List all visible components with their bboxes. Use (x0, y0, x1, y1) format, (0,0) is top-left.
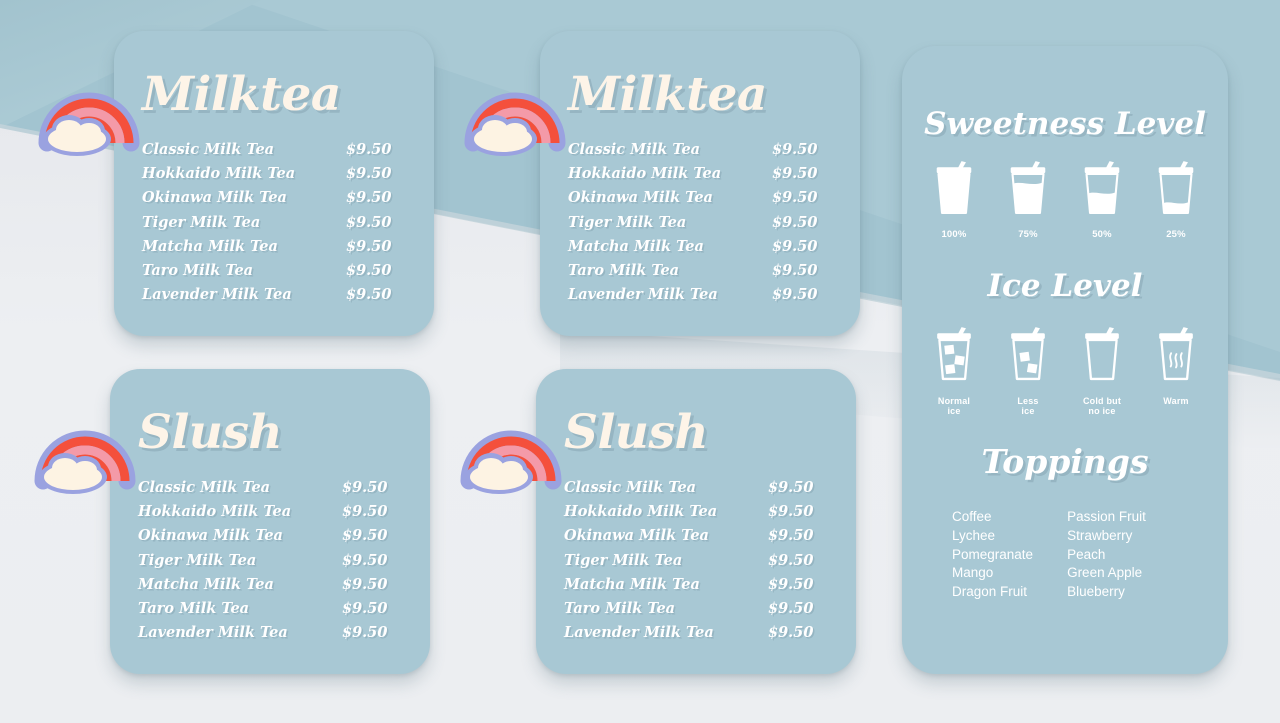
cup-icon (1003, 158, 1053, 225)
menu-item-price: $9.50 (768, 479, 832, 496)
menu-row[interactable]: Lavender Milk Tea$9.50 (568, 286, 836, 310)
menu-row[interactable]: Classic Milk Tea$9.50 (564, 479, 832, 503)
menu-item-price: $9.50 (342, 600, 406, 617)
menu-card-slush-1[interactable]: Slush Classic Milk Tea$9.50Hokkaido Milk… (110, 369, 430, 674)
menu-item-price: $9.50 (768, 600, 832, 617)
ice-option[interactable]: Lessice (1000, 324, 1056, 416)
menu-item-price: $9.50 (772, 238, 836, 255)
menu-item-name: Tiger Milk Tea (568, 214, 686, 231)
menu-row[interactable]: Classic Milk Tea$9.50 (568, 141, 836, 165)
menu-item-name: Matcha Milk Tea (568, 238, 704, 255)
menu-row[interactable]: Lavender Milk Tea$9.50 (564, 624, 832, 648)
menu-item-name: Hokkaido Milk Tea (568, 165, 721, 182)
menu-card-slush-2[interactable]: Slush Classic Milk Tea$9.50Hokkaido Milk… (536, 369, 856, 674)
menu-item-name: Lavender Milk Tea (142, 286, 292, 303)
menu-item-name: Okinawa Milk Tea (564, 527, 709, 544)
menu-row[interactable]: Taro Milk Tea$9.50 (568, 262, 836, 286)
ice-option-label: Cold butno ice (1083, 396, 1121, 416)
menu-row[interactable]: Tiger Milk Tea$9.50 (564, 552, 832, 576)
menu-item-name: Hokkaido Milk Tea (564, 503, 717, 520)
menu-row[interactable]: Matcha Milk Tea$9.50 (138, 576, 406, 600)
menu-row[interactable]: Tiger Milk Tea$9.50 (138, 552, 406, 576)
menu-row[interactable]: Hokkaido Milk Tea$9.50 (564, 503, 832, 527)
toppings-column-left: CoffeeLycheePomegranateMangoDragon Fruit (952, 508, 1033, 601)
menu-item-price: $9.50 (772, 286, 836, 303)
menu-item-price: $9.50 (346, 262, 410, 279)
menu-item-price: $9.50 (768, 527, 832, 544)
menu-item-name: Classic Milk Tea (564, 479, 696, 496)
warm-cup-icon (1151, 324, 1201, 391)
toppings-list: CoffeeLycheePomegranateMangoDragon Fruit… (952, 508, 1194, 601)
menu-item-price: $9.50 (772, 214, 836, 231)
sweetness-level-options: 100% 75% 50% 25% (902, 158, 1228, 241)
topping-item[interactable]: Pomegranate (952, 546, 1033, 564)
menu-row[interactable]: Tiger Milk Tea$9.50 (568, 214, 836, 238)
menu-row[interactable]: Okinawa Milk Tea$9.50 (564, 527, 832, 551)
ice-level-options: Normalice Lessice Cold butno ice Warm (902, 324, 1228, 416)
menu-item-price: $9.50 (772, 262, 836, 279)
rainbow-icon (459, 47, 571, 159)
topping-item[interactable]: Blueberry (1067, 583, 1146, 601)
menu-item-price: $9.50 (768, 576, 832, 593)
menu-list: Classic Milk Tea$9.50Hokkaido Milk Tea$9… (564, 479, 832, 648)
menu-item-name: Okinawa Milk Tea (138, 527, 283, 544)
ice-option[interactable]: Cold butno ice (1074, 324, 1130, 416)
topping-item[interactable]: Mango (952, 564, 1033, 582)
menu-item-price: $9.50 (342, 576, 406, 593)
topping-item[interactable]: Coffee (952, 508, 1033, 526)
menu-item-price: $9.50 (768, 624, 832, 641)
menu-row[interactable]: Matcha Milk Tea$9.50 (564, 576, 832, 600)
menu-row[interactable]: Classic Milk Tea$9.50 (138, 479, 406, 503)
ice-option-label: Warm (1163, 396, 1188, 406)
topping-item[interactable]: Passion Fruit (1067, 508, 1146, 526)
menu-item-name: Taro Milk Tea (568, 262, 679, 279)
menu-item-name: Hokkaido Milk Tea (138, 503, 291, 520)
sweetness-option-label: 75% (1018, 230, 1038, 241)
sweetness-option[interactable]: 75% (1000, 158, 1056, 241)
card-title: Milktea (142, 71, 341, 118)
topping-item[interactable]: Dragon Fruit (952, 583, 1033, 601)
options-panel[interactable]: Sweetness Level 100% 75% 50% 25% Ice Lev… (902, 46, 1228, 674)
menu-row[interactable]: Taro Milk Tea$9.50 (564, 600, 832, 624)
menu-list: Classic Milk Tea$9.50Hokkaido Milk Tea$9… (568, 141, 836, 310)
menu-item-name: Taro Milk Tea (142, 262, 253, 279)
cup-icon (1151, 158, 1201, 225)
menu-item-name: Classic Milk Tea (142, 141, 274, 158)
ice-option-label: Lessice (1017, 396, 1038, 416)
menu-item-name: Okinawa Milk Tea (568, 189, 713, 206)
menu-row[interactable]: Tiger Milk Tea$9.50 (142, 214, 410, 238)
ice-cup-icon (929, 324, 979, 391)
sweetness-option-label: 100% (941, 230, 966, 241)
menu-item-price: $9.50 (346, 238, 410, 255)
menu-item-price: $9.50 (342, 503, 406, 520)
toppings-heading: Toppings (902, 442, 1228, 481)
toppings-column-right: Passion FruitStrawberryPeachGreen AppleB… (1067, 508, 1146, 601)
menu-item-price: $9.50 (768, 552, 832, 569)
menu-item-price: $9.50 (772, 165, 836, 182)
menu-item-price: $9.50 (772, 141, 836, 158)
topping-item[interactable]: Strawberry (1067, 527, 1146, 545)
sweetness-level-heading: Sweetness Level (902, 106, 1228, 142)
card-title: Slush (138, 409, 282, 456)
menu-list: Classic Milk Tea$9.50Hokkaido Milk Tea$9… (138, 479, 406, 648)
menu-row[interactable]: Taro Milk Tea$9.50 (138, 600, 406, 624)
menu-row[interactable]: Okinawa Milk Tea$9.50 (142, 189, 410, 213)
menu-item-price: $9.50 (346, 214, 410, 231)
menu-card-milktea-1[interactable]: Milktea Classic Milk Tea$9.50Hokkaido Mi… (114, 31, 434, 336)
menu-row[interactable]: Okinawa Milk Tea$9.50 (138, 527, 406, 551)
menu-item-name: Okinawa Milk Tea (142, 189, 287, 206)
menu-item-name: Tiger Milk Tea (564, 552, 682, 569)
menu-row[interactable]: Lavender Milk Tea$9.50 (138, 624, 406, 648)
topping-item[interactable]: Peach (1067, 546, 1146, 564)
ice-option[interactable]: Normalice (926, 324, 982, 416)
menu-item-price: $9.50 (768, 503, 832, 520)
menu-item-name: Lavender Milk Tea (564, 624, 714, 641)
menu-row[interactable]: Hokkaido Milk Tea$9.50 (568, 165, 836, 189)
menu-item-name: Taro Milk Tea (564, 600, 675, 617)
topping-item[interactable]: Green Apple (1067, 564, 1146, 582)
menu-item-price: $9.50 (772, 189, 836, 206)
sweetness-option[interactable]: 25% (1148, 158, 1204, 241)
rainbow-icon (455, 385, 567, 497)
ice-cup-icon (1003, 324, 1053, 391)
menu-item-name: Hokkaido Milk Tea (142, 165, 295, 182)
rainbow-icon (29, 385, 141, 497)
menu-item-price: $9.50 (342, 479, 406, 496)
sweetness-option[interactable]: 50% (1074, 158, 1130, 241)
menu-item-price: $9.50 (342, 527, 406, 544)
menu-list: Classic Milk Tea$9.50Hokkaido Milk Tea$9… (142, 141, 410, 310)
card-title: Slush (564, 409, 708, 456)
menu-row[interactable]: Taro Milk Tea$9.50 (142, 262, 410, 286)
ice-option[interactable]: Warm (1148, 324, 1204, 416)
menu-item-price: $9.50 (346, 165, 410, 182)
menu-item-name: Lavender Milk Tea (138, 624, 288, 641)
menu-item-name: Classic Milk Tea (568, 141, 700, 158)
ice-option-label: Normalice (938, 396, 970, 416)
cup-icon (1077, 158, 1127, 225)
menu-item-price: $9.50 (342, 624, 406, 641)
sweetness-option[interactable]: 100% (926, 158, 982, 241)
menu-item-name: Matcha Milk Tea (142, 238, 278, 255)
menu-row[interactable]: Okinawa Milk Tea$9.50 (568, 189, 836, 213)
rainbow-icon (33, 47, 145, 159)
menu-item-name: Lavender Milk Tea (568, 286, 718, 303)
menu-row[interactable]: Hokkaido Milk Tea$9.50 (142, 165, 410, 189)
card-title: Milktea (568, 71, 767, 118)
menu-row[interactable]: Matcha Milk Tea$9.50 (142, 238, 410, 262)
menu-card-milktea-2[interactable]: Milktea Classic Milk Tea$9.50Hokkaido Mi… (540, 31, 860, 336)
menu-item-price: $9.50 (342, 552, 406, 569)
menu-row[interactable]: Lavender Milk Tea$9.50 (142, 286, 410, 310)
ice-cup-icon (1077, 324, 1127, 391)
menu-row[interactable]: Classic Milk Tea$9.50 (142, 141, 410, 165)
menu-row[interactable]: Matcha Milk Tea$9.50 (568, 238, 836, 262)
cup-icon (929, 158, 979, 225)
menu-item-name: Matcha Milk Tea (138, 576, 274, 593)
menu-item-price: $9.50 (346, 141, 410, 158)
sweetness-option-label: 50% (1092, 230, 1112, 241)
menu-item-price: $9.50 (346, 189, 410, 206)
menu-item-price: $9.50 (346, 286, 410, 303)
menu-item-name: Matcha Milk Tea (564, 576, 700, 593)
sweetness-option-label: 25% (1166, 230, 1186, 241)
menu-item-name: Tiger Milk Tea (142, 214, 260, 231)
menu-item-name: Tiger Milk Tea (138, 552, 256, 569)
menu-item-name: Taro Milk Tea (138, 600, 249, 617)
topping-item[interactable]: Lychee (952, 527, 1033, 545)
menu-row[interactable]: Hokkaido Milk Tea$9.50 (138, 503, 406, 527)
menu-item-name: Classic Milk Tea (138, 479, 270, 496)
ice-level-heading: Ice Level (902, 268, 1228, 304)
